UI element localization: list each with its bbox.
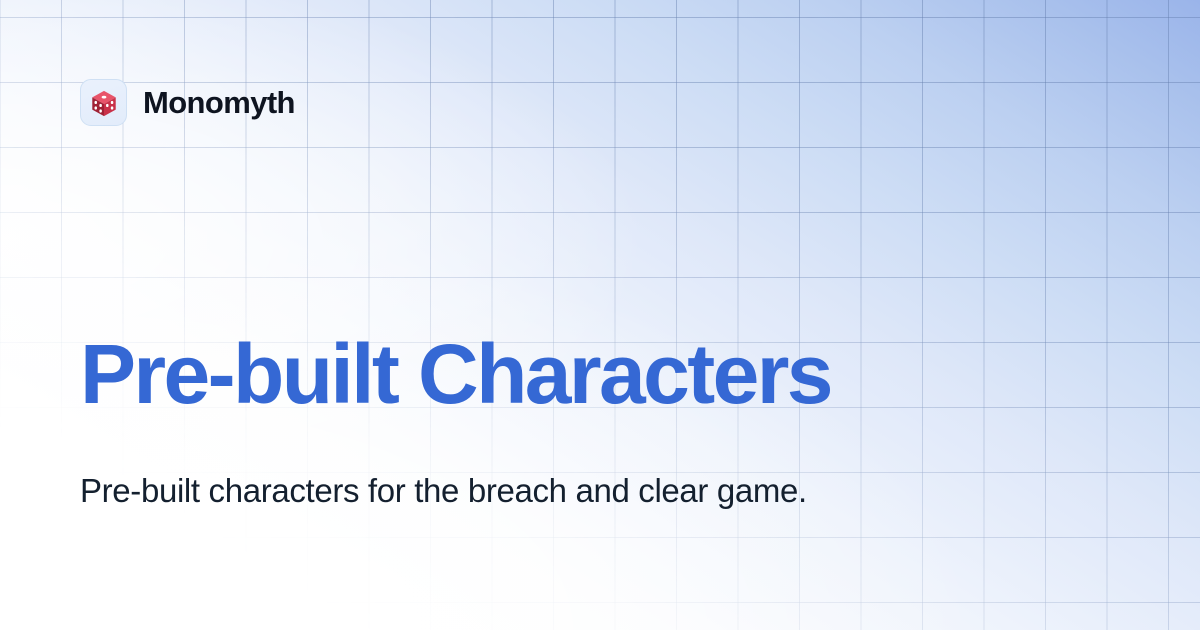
brand-lockup: Monomyth bbox=[80, 79, 295, 126]
brand-name: Monomyth bbox=[143, 87, 295, 118]
game-die-icon bbox=[89, 88, 119, 118]
page-title: Pre-built Characters bbox=[80, 332, 831, 416]
brand-logo-container bbox=[80, 79, 127, 126]
card-content: Monomyth Pre-built Characters Pre-built … bbox=[0, 0, 1200, 630]
page-subtitle: Pre-built characters for the breach and … bbox=[80, 468, 870, 514]
og-card: Monomyth Pre-built Characters Pre-built … bbox=[0, 0, 1200, 630]
